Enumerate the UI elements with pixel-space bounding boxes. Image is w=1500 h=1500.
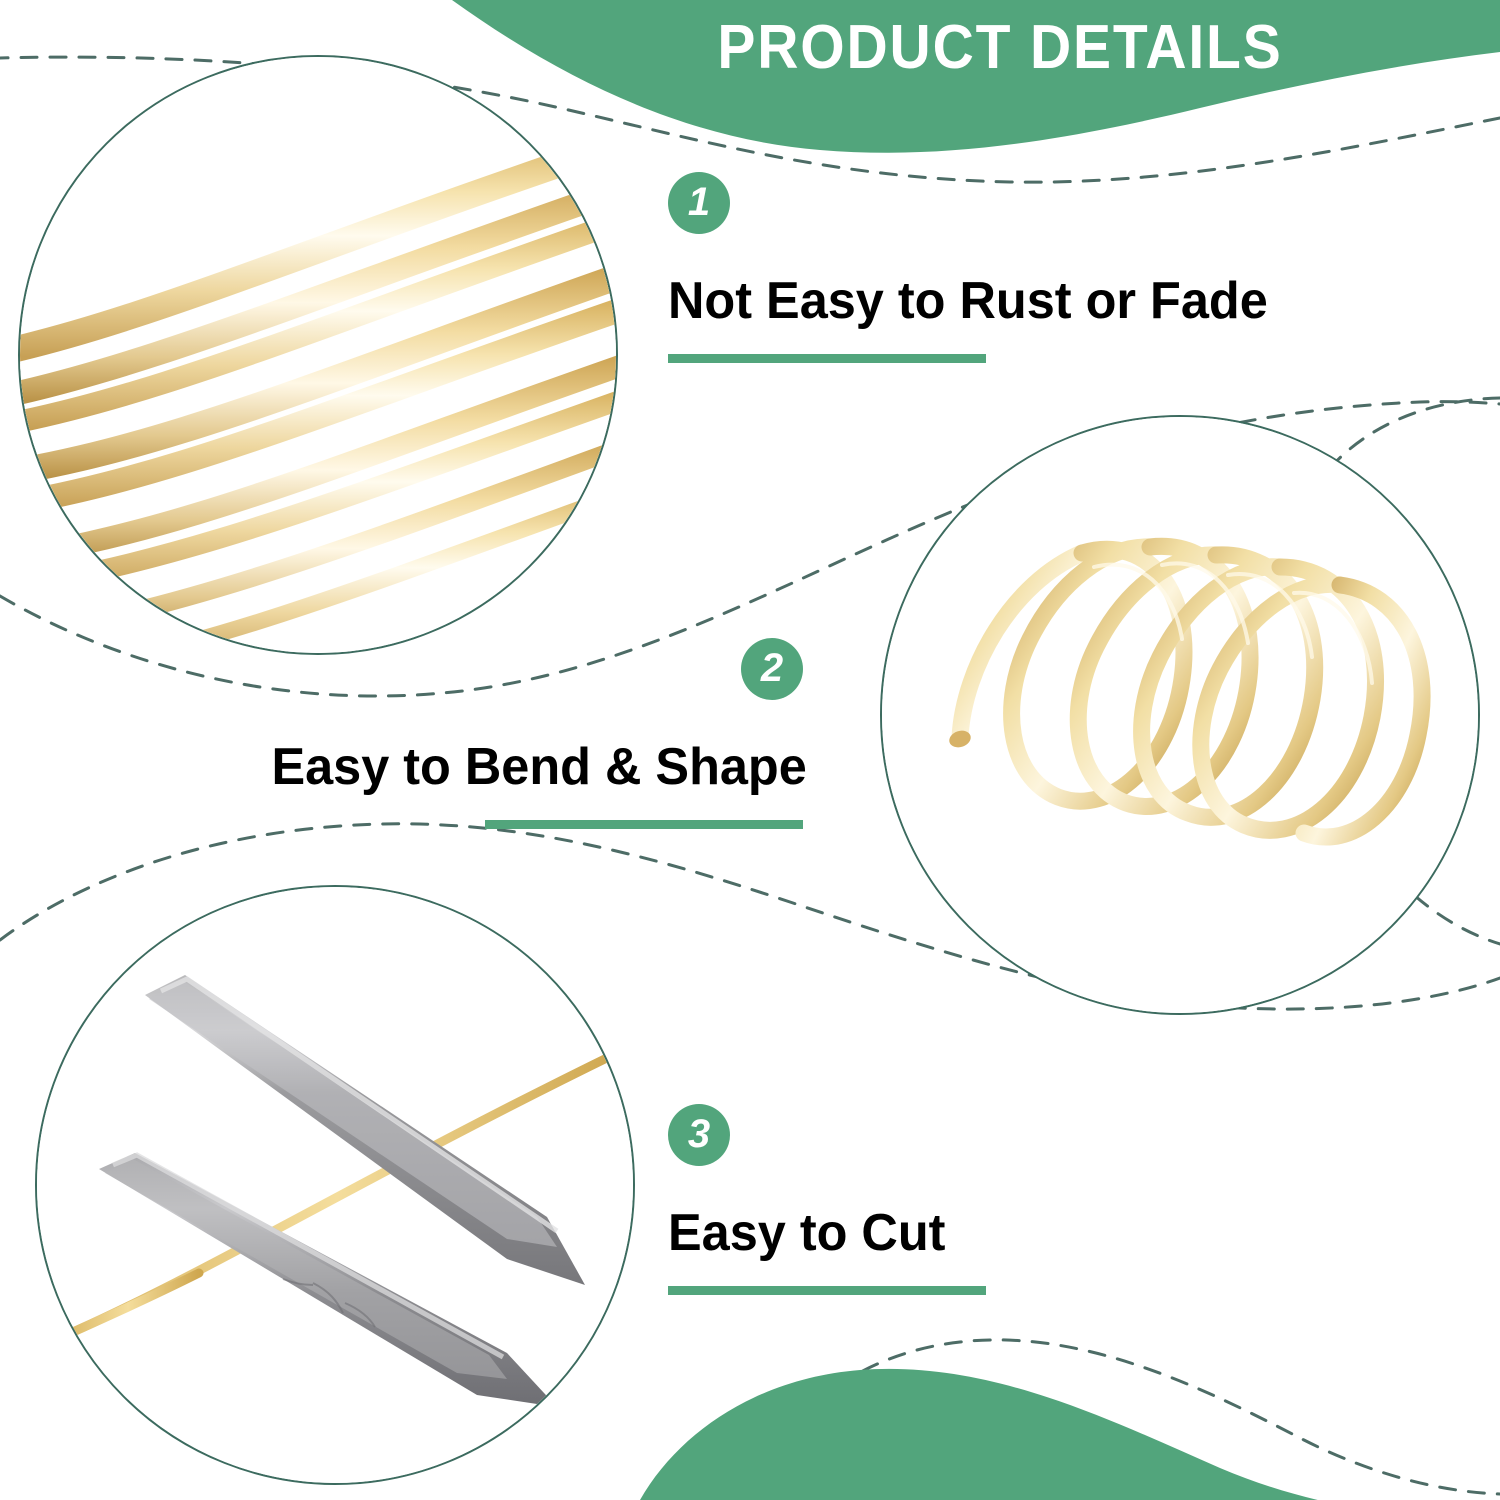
feature-underline-2: [485, 820, 803, 829]
feature-block-1: 1 Not Easy to Rust or Fade: [668, 172, 1286, 363]
feature-title-2: Easy to Bend & Shape: [271, 736, 803, 798]
feature-title-1: Not Easy to Rust or Fade: [668, 270, 1268, 332]
feature-badge-1: 1: [668, 172, 730, 234]
photo-gold-wire-spiral: [880, 415, 1480, 1015]
feature-badge-3: 3: [668, 1104, 730, 1166]
feature-block-3: 3 Easy to Cut: [668, 1104, 986, 1295]
footer-blob-shape: [640, 1369, 1500, 1500]
photo-gold-wire-strands: [18, 55, 618, 655]
dash-curve-bottom: [760, 1340, 1500, 1494]
feature-badge-2: 2: [741, 638, 803, 700]
product-details-infographic: PRODUCT DETAILS: [0, 0, 1500, 1500]
photo-scissors-cutting-wire: [35, 885, 635, 1485]
feature-underline-3: [668, 1286, 986, 1295]
page-title: PRODUCT DETAILS: [669, 12, 1331, 84]
feature-block-2: 2 Easy to Bend & Shape: [255, 638, 803, 829]
feature-title-3: Easy to Cut: [668, 1202, 976, 1264]
feature-underline-1: [668, 354, 986, 363]
